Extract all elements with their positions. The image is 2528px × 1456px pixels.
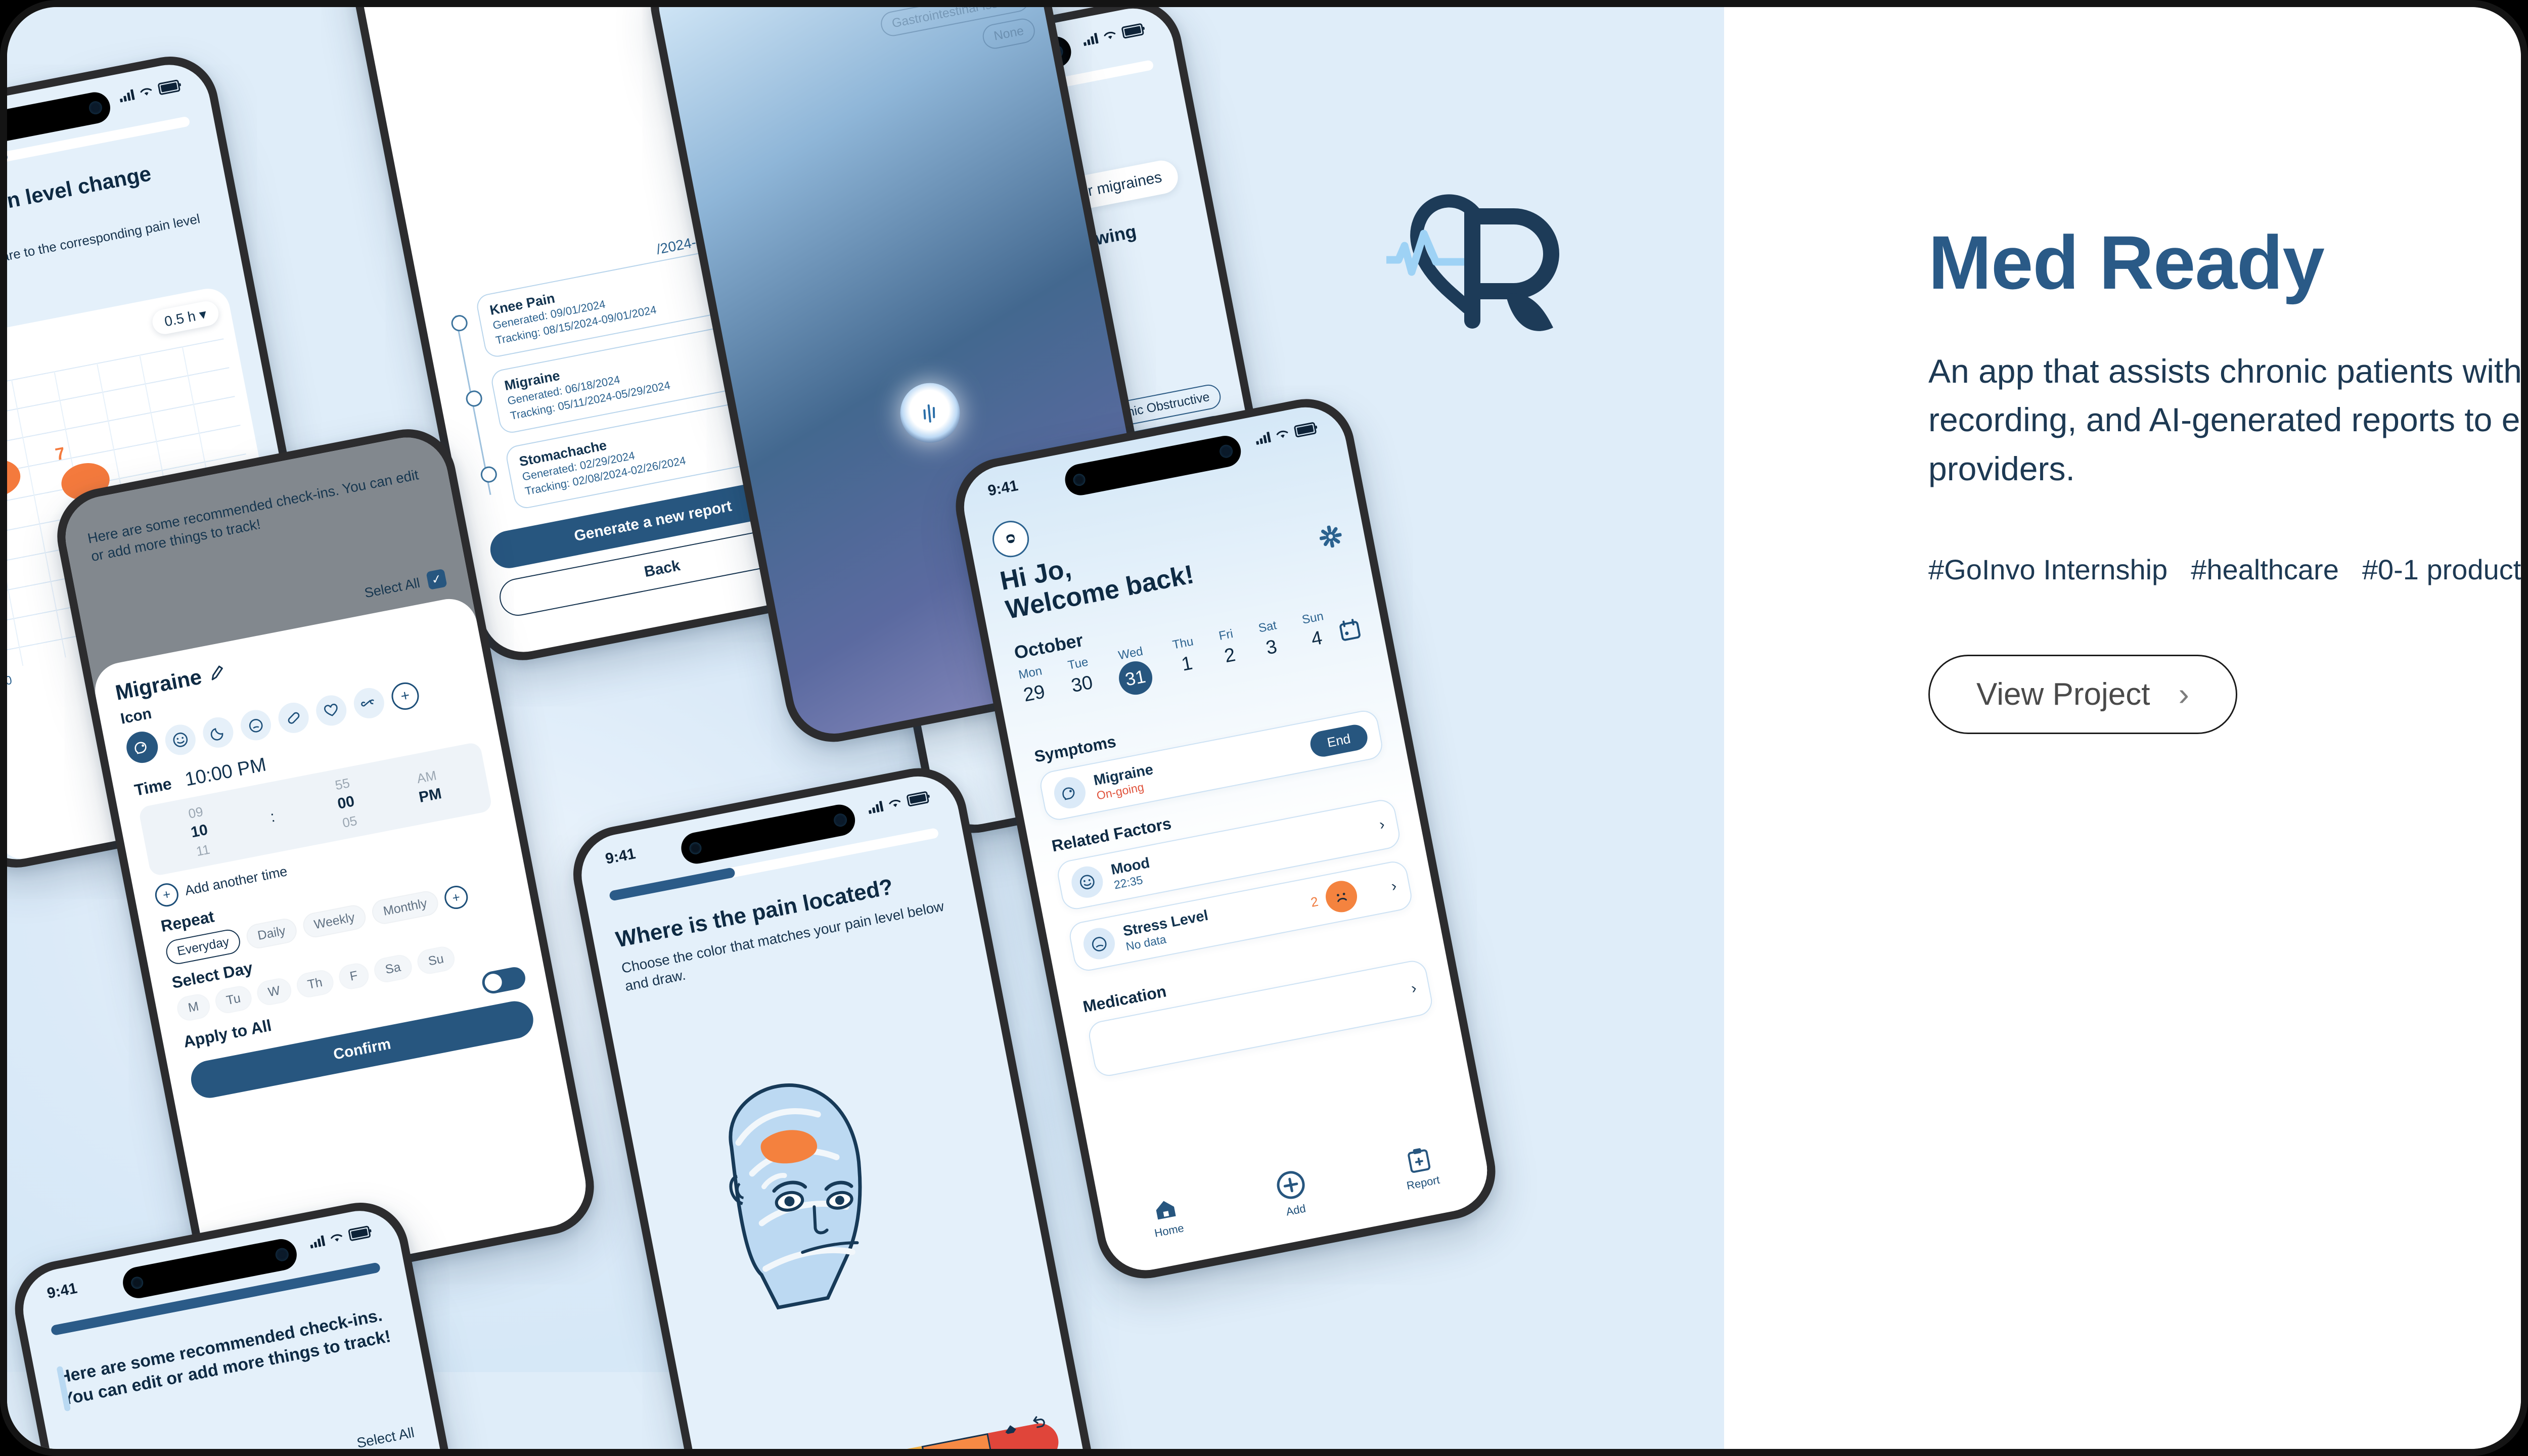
project-tags: #GoInvo Internship#healthcare#0-1 produc…	[1928, 550, 2528, 590]
mood-icon	[1069, 863, 1106, 900]
page-title: Med Ready	[1928, 224, 2528, 300]
weekday: Tue	[1066, 655, 1090, 673]
add-icon-button[interactable]: +	[389, 680, 421, 712]
timeline-dot	[450, 313, 469, 333]
pain-point-label: 7	[54, 444, 67, 465]
condition-option[interactable]: None	[981, 17, 1037, 51]
status-time: 9:41	[604, 845, 637, 868]
tag-product-design: #0-1 product design	[2362, 554, 2528, 585]
signal-bars-icon	[309, 1235, 326, 1248]
day-chip-f[interactable]: F	[337, 961, 371, 991]
undo-icon[interactable]	[1028, 1413, 1048, 1433]
bone-icon[interactable]	[351, 686, 387, 721]
project-card: 9:41 Does the pain level change over tim…	[0, 0, 2528, 1456]
day-chip-th[interactable]: Th	[294, 968, 335, 999]
sleep-moon-icon[interactable]	[200, 715, 236, 750]
battery-icon	[348, 1225, 371, 1242]
apply-to-all-label: Apply to All	[182, 1016, 273, 1052]
sad-face-icon[interactable]	[1323, 878, 1360, 915]
wifi-icon	[887, 797, 902, 810]
day-chip-tu[interactable]: Tu	[213, 984, 254, 1015]
repeat-option-weekly[interactable]: Weekly	[301, 903, 368, 939]
day-chip-m[interactable]: M	[175, 992, 212, 1022]
weekday: Sat	[1257, 618, 1278, 635]
chevron-right-icon[interactable]: ›	[1410, 980, 1418, 997]
home-icon	[1151, 1196, 1180, 1222]
stress-icon	[1081, 925, 1118, 962]
tag-healthcare: #healthcare	[2191, 554, 2339, 585]
wheel-hour: 11	[193, 840, 213, 861]
battery-icon	[1294, 422, 1317, 438]
mood-icon[interactable]	[163, 722, 198, 757]
timeline-dot	[479, 465, 499, 484]
end-symptom-button[interactable]: End	[1308, 722, 1370, 759]
view-project-label: View Project	[1976, 676, 2150, 712]
add-circle-icon	[1273, 1167, 1308, 1203]
interval-value: 0.5 h	[163, 308, 197, 329]
interval-dropdown[interactable]: 0.5 h ▾	[150, 299, 220, 336]
signal-bars-icon	[867, 800, 884, 814]
day-chip-w[interactable]: W	[255, 976, 293, 1007]
date-cell[interactable]: 30	[1069, 672, 1095, 697]
status-bar: 9:41	[577, 783, 957, 873]
checkbox-checked-icon[interactable]: ✓	[426, 569, 447, 590]
project-description: An app that assists chronic patients wit…	[1928, 347, 2528, 493]
med-ready-heart-pulse-logo	[1386, 185, 1578, 352]
time-label: Time	[133, 775, 173, 800]
signal-bars-icon	[118, 88, 135, 102]
status-time: 9:41	[46, 1280, 78, 1303]
status-time: 9:41	[986, 477, 1019, 500]
screen-pain-location: 9:41 Where is the pain located? Choose t…	[574, 769, 1098, 1449]
date-cell[interactable]: 3	[1260, 635, 1283, 660]
symptom-row-migraine[interactable]: Migraine On-going End	[1038, 708, 1385, 823]
date-cell-selected[interactable]: 31	[1116, 658, 1155, 697]
tab-home[interactable]: Home	[1148, 1196, 1185, 1240]
related-count: 2	[1310, 893, 1320, 910]
weekday: Thu	[1171, 634, 1195, 652]
wheel-meridiem-selected: PM	[417, 784, 443, 808]
battery-icon	[157, 79, 180, 96]
tab-bar[interactable]: Home Add Report	[1095, 1109, 1494, 1277]
stress-icon[interactable]	[238, 707, 274, 743]
select-all-label[interactable]: Select All	[355, 1425, 416, 1449]
medication-row[interactable]: ›	[1087, 958, 1434, 1078]
wheel-minute: 05	[340, 811, 359, 832]
x-tick: 17:30	[7, 673, 13, 693]
signal-bars-icon	[1254, 431, 1271, 445]
ai-voice-orb-button[interactable]	[895, 378, 965, 447]
wheel-minute-selected: 00	[336, 791, 356, 814]
apply-to-all-toggle[interactable]	[480, 965, 527, 995]
date-cell[interactable]: 29	[1021, 681, 1048, 707]
edit-pencil-icon[interactable]	[208, 664, 227, 683]
gear-icon[interactable]	[1318, 524, 1344, 550]
heart-pulse-icon[interactable]	[313, 693, 349, 728]
project-media-panel: 9:41 Does the pain level change over tim…	[7, 7, 1724, 1449]
date-cell[interactable]: 4	[1304, 626, 1329, 652]
repeat-option-daily[interactable]: Daily	[245, 917, 299, 950]
waveform-icon	[914, 397, 946, 429]
add-another-time-label[interactable]: Add another time	[184, 863, 289, 899]
tag-goinvo-internship: #GoInvo Internship	[1928, 554, 2168, 585]
wheel-hour-selected: 10	[189, 820, 209, 843]
chevron-right-icon[interactable]: ›	[1390, 878, 1398, 895]
signal-bars-icon	[1082, 32, 1099, 46]
weekday: Mon	[1017, 664, 1043, 682]
add-time-icon[interactable]: +	[153, 881, 180, 908]
day-chip-sa[interactable]: Sa	[372, 952, 414, 984]
calendar-icon[interactable]	[1338, 618, 1362, 643]
calendar-week-strip[interactable]: Mon 29 Tue 30 Wed 31 Thu 1 Fri 2 Sat 3 S…	[1017, 609, 1331, 716]
medication-pill-icon[interactable]	[276, 700, 311, 736]
status-bar: 9:41	[19, 1218, 398, 1308]
date-cell[interactable]: 2	[1221, 644, 1239, 668]
pain-point[interactable]	[7, 456, 24, 501]
battery-icon	[1121, 23, 1144, 39]
tab-home-label: Home	[1153, 1221, 1185, 1240]
avatar[interactable]	[989, 518, 1032, 560]
migraine-editor-sheet: Migraine Icon	[91, 594, 593, 1292]
screen-home: 9:41	[957, 400, 1495, 1278]
day-chip-su[interactable]: Su	[415, 944, 457, 976]
tab-report[interactable]: Report	[1400, 1145, 1441, 1193]
wifi-icon	[1275, 428, 1290, 441]
tab-add-label: Add	[1285, 1202, 1306, 1218]
project-info-panel: Med Ready An app that assists chronic pa…	[1724, 7, 2528, 1449]
wifi-icon	[329, 1232, 344, 1244]
weekday: Wed	[1113, 644, 1148, 664]
report-clipboard-icon	[1405, 1146, 1433, 1175]
repeat-option-monthly[interactable]: Monthly	[370, 889, 440, 926]
chevron-right-icon[interactable]: ›	[1378, 816, 1386, 834]
wifi-icon	[1102, 29, 1117, 42]
head-pain-icon[interactable]	[124, 729, 161, 766]
tab-add[interactable]: Add	[1273, 1167, 1312, 1220]
wifi-icon	[139, 85, 153, 98]
weekday: Sun	[1301, 609, 1325, 627]
head-pain-icon	[1052, 775, 1089, 811]
battery-icon	[906, 791, 929, 807]
timeline-dot	[465, 389, 484, 408]
tab-report-label: Report	[1406, 1173, 1441, 1193]
view-project-button[interactable]: View Project ›	[1928, 655, 2237, 734]
head-illustration[interactable]	[658, 1048, 922, 1349]
chevron-right-icon: ›	[2178, 681, 2189, 707]
weekday: Fri	[1217, 627, 1234, 644]
add-repeat-icon[interactable]: +	[442, 884, 470, 911]
eraser-icon[interactable]	[1000, 1418, 1020, 1438]
date-cell[interactable]: 1	[1175, 652, 1199, 677]
